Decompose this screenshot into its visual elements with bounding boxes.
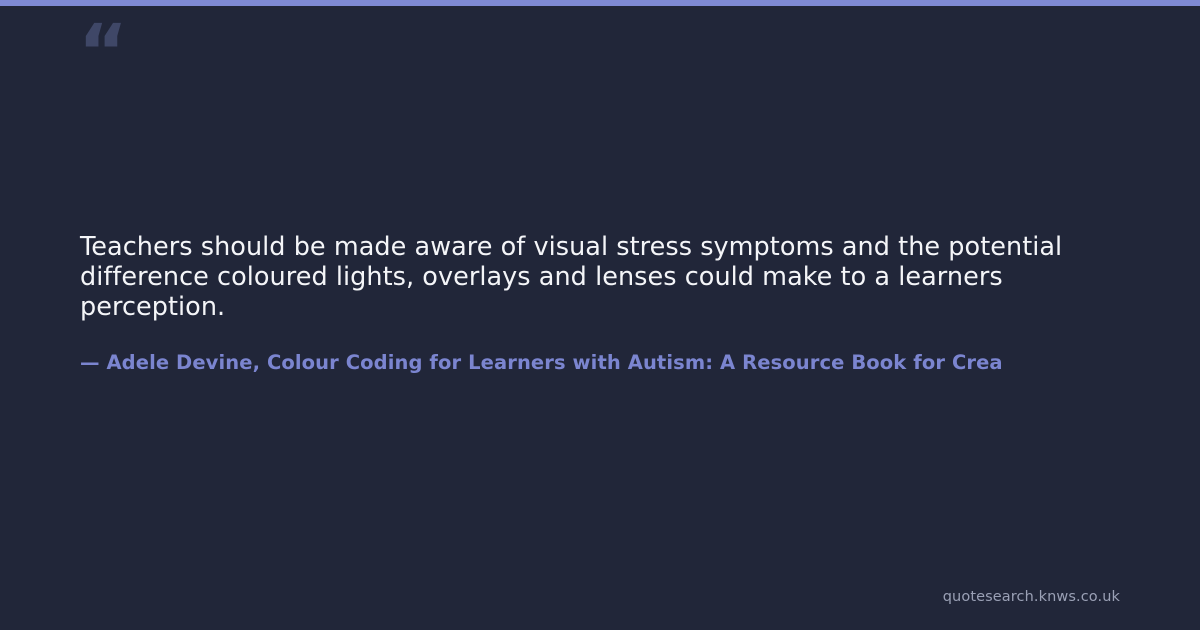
top-accent-bar	[0, 0, 1200, 6]
quote-text: Teachers should be made aware of visual …	[80, 232, 1115, 322]
quote-mark-icon: “	[78, 14, 127, 90]
quote-content: Teachers should be made aware of visual …	[80, 232, 1200, 376]
footer-site-url: quotesearch.knws.co.uk	[943, 588, 1120, 606]
quote-card: “ Teachers should be made aware of visua…	[0, 0, 1200, 630]
quote-attribution: — Adele Devine, Colour Coding for Learne…	[80, 350, 1200, 376]
